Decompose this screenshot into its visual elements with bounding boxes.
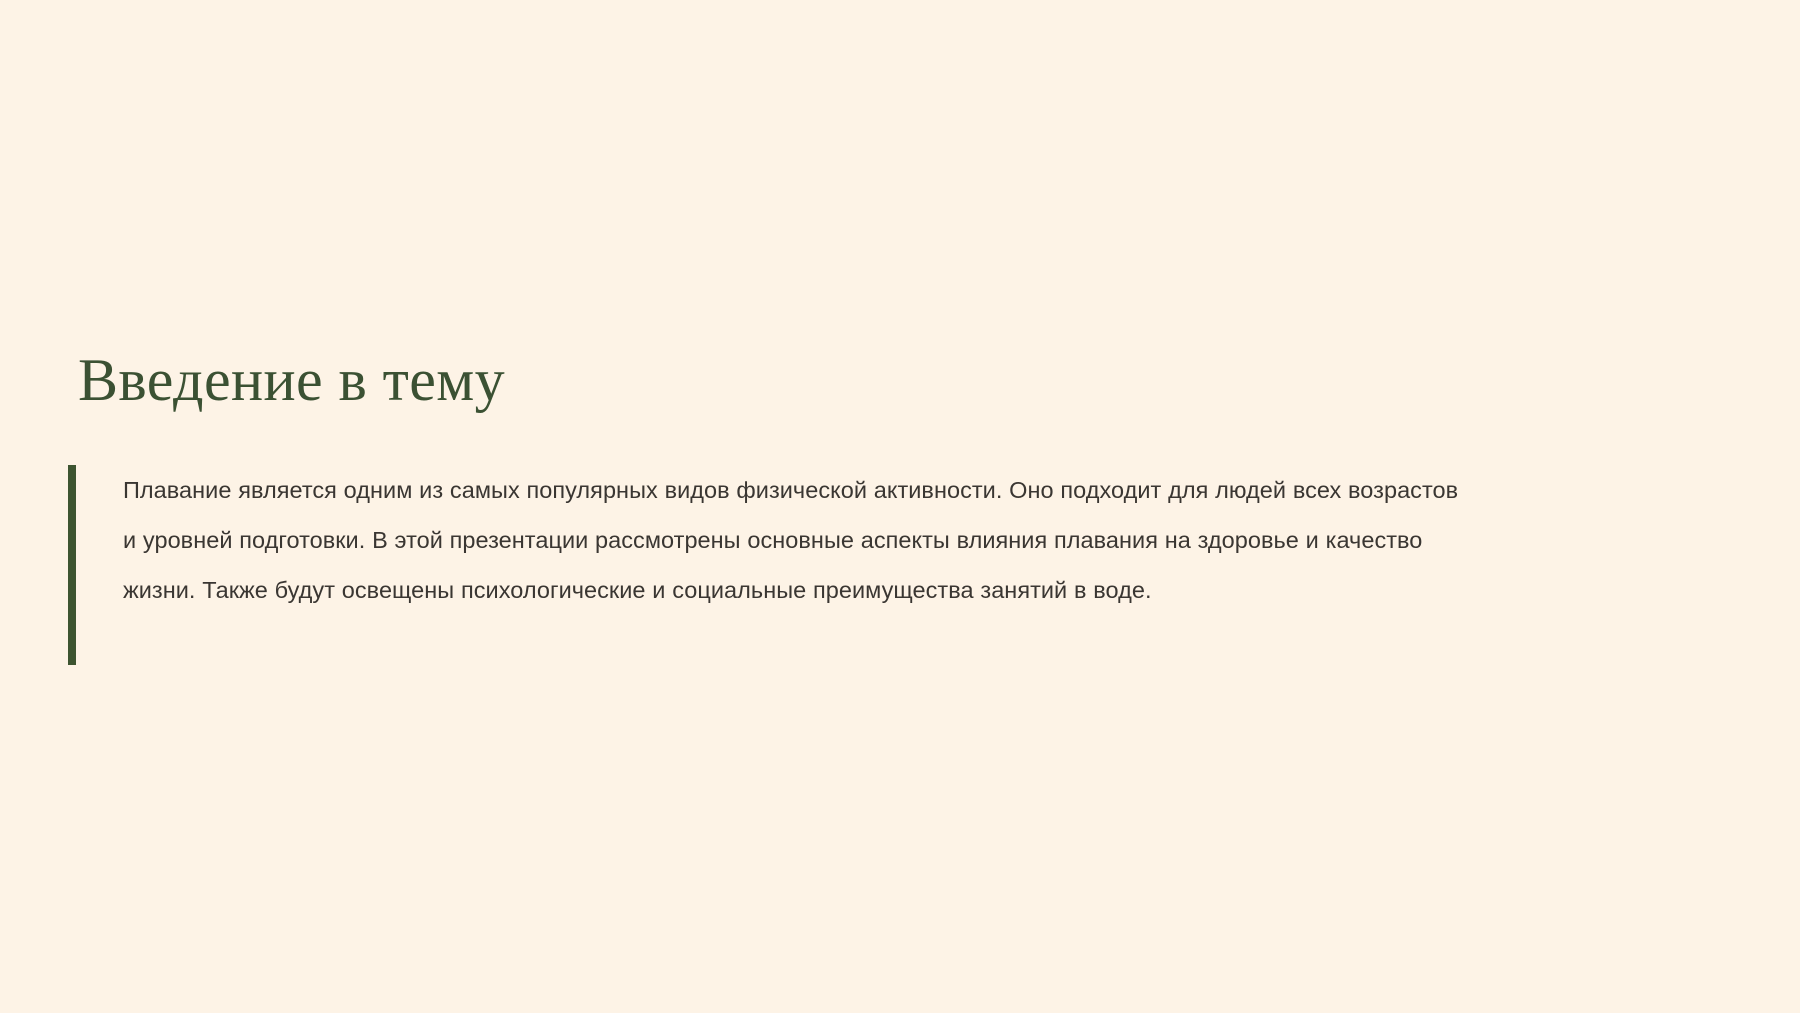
slide-content-area: Введение в тему Плавание является одним … [0,0,1800,1013]
body-callout-block: Плавание является одним из самых популяр… [68,465,1478,665]
accent-bar [68,465,76,665]
body-text-container: Плавание является одним из самых популяр… [76,465,1478,665]
presentation-slide: Введение в тему Плавание является одним … [0,0,1800,1013]
body-paragraph: Плавание является одним из самых популяр… [123,465,1478,615]
page-title: Введение в тему [78,348,505,413]
